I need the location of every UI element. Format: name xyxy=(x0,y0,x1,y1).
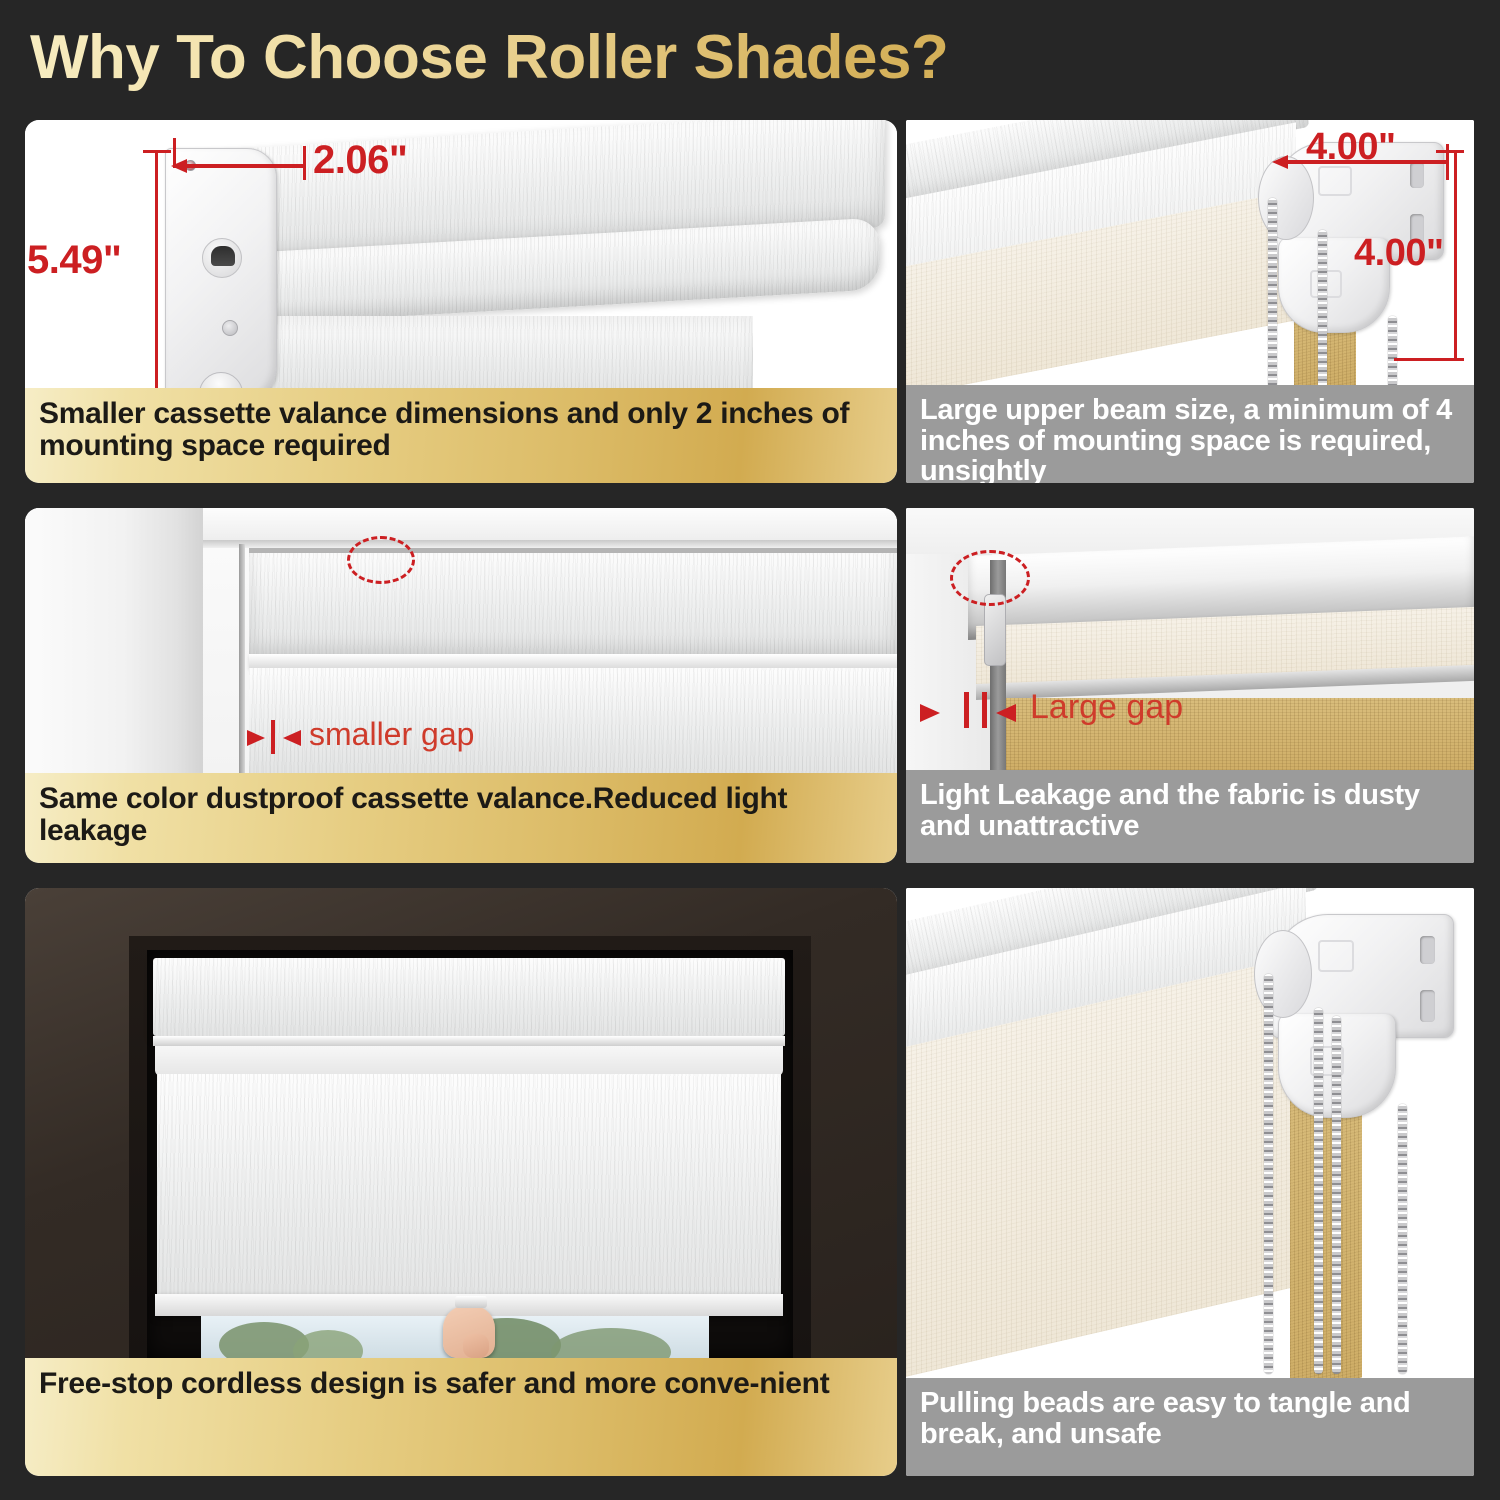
caption-panel-5: Free-stop cordless design is safer and m… xyxy=(25,1358,897,1476)
panel-pulling-beads: Pulling beads are easy to tangle and bre… xyxy=(906,888,1474,1476)
gap-arrow-left xyxy=(996,704,1016,722)
beam-width-label: 4.00" xyxy=(1306,126,1395,169)
caption-panel-1: Smaller cassette valance dimensions and … xyxy=(25,388,897,483)
bead-chain xyxy=(1314,1008,1323,1374)
bead-chain xyxy=(1398,1104,1407,1374)
photo-bulky-bracket-shade: 4.00" 4.00" xyxy=(906,120,1474,385)
gap-callout-ring xyxy=(347,536,415,584)
caption-panel-2: Large upper beam size, a minimum of 4 in… xyxy=(906,385,1474,483)
caption-panel-3: Same color dustproof cassette valance.Re… xyxy=(25,773,897,863)
photo-bead-chain-shade xyxy=(906,888,1474,1378)
photo-white-cassette-valance: 2.06" 5.49" xyxy=(25,120,897,390)
height-dimension-line xyxy=(155,150,158,390)
panel-large-upper-beam: 4.00" 4.00" Large upper beam size, a min… xyxy=(906,120,1474,483)
large-gap-label: Large gap xyxy=(1030,688,1183,727)
bead-chain xyxy=(1318,230,1327,385)
caption-panel-4: Light Leakage and the fabric is dusty an… xyxy=(906,770,1474,863)
panel-smaller-cassette: 2.06" 5.49" Smaller cassette valance dim… xyxy=(25,120,897,483)
bead-chain xyxy=(1388,316,1397,385)
height-dimension-label: 5.49" xyxy=(25,238,125,283)
panel-light-leakage: Large gap Light Leakage and the fabric i… xyxy=(906,508,1474,863)
photo-window-small-gap: smaller gap xyxy=(25,508,897,773)
bead-chain xyxy=(1264,974,1273,1374)
gap-arrow-right xyxy=(920,704,940,722)
gap-arrow-right xyxy=(247,730,265,746)
panel-dustproof-cassette: smaller gap Same color dustproof cassett… xyxy=(25,508,897,863)
smaller-gap-label: smaller gap xyxy=(309,716,474,753)
width-dimension-label: 2.06" xyxy=(313,138,407,183)
gap-arrow-left xyxy=(283,730,301,746)
width-dimension-line xyxy=(177,164,305,168)
caption-panel-6: Pulling beads are easy to tangle and bre… xyxy=(906,1378,1474,1476)
photo-cordless-shade-window xyxy=(25,888,897,1358)
photo-window-large-gap: Large gap xyxy=(906,508,1474,770)
bead-chain xyxy=(1268,198,1277,385)
comparison-grid: 2.06" 5.49" Smaller cassette valance dim… xyxy=(0,0,1500,1500)
gap-callout-ring xyxy=(950,550,1030,606)
panel-cordless-design: Free-stop cordless design is safer and m… xyxy=(25,888,897,1476)
bead-chain xyxy=(1332,1016,1341,1374)
beam-height-label: 4.00" xyxy=(1354,232,1443,275)
